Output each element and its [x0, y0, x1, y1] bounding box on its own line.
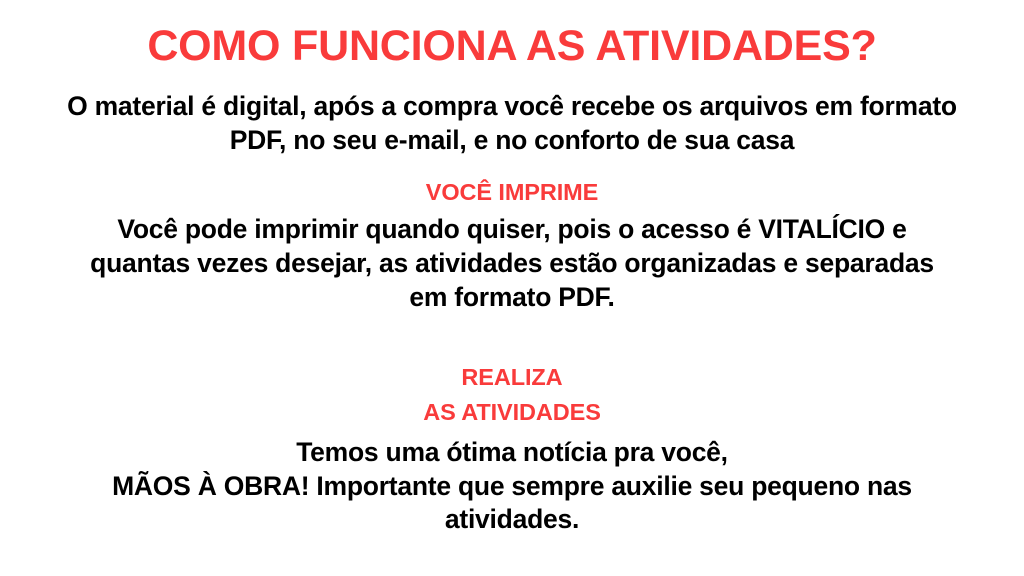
page-title: COMO FUNCIONA AS ATIVIDADES?	[0, 0, 1024, 68]
section-voce-imprime: VOCÊ IMPRIME Você pode imprimir quando q…	[0, 178, 1024, 315]
intro-paragraph: O material é digital, após a compra você…	[0, 90, 1024, 158]
imprime-text: Você pode imprimir quando quiser, pois o…	[14, 213, 1010, 315]
intro-text: O material é digital, após a compra você…	[14, 90, 1010, 158]
realiza-text: Temos uma ótima notícia pra você, MÃOS À…	[14, 436, 1010, 538]
imprime-line-3: em formato PDF.	[14, 281, 1010, 315]
imprime-line-2: quantas vezes desejar, as atividades est…	[14, 247, 1010, 281]
intro-line-1: O material é digital, após a compra você…	[14, 90, 1010, 124]
intro-line-2: PDF, no seu e-mail, e no conforto de sua…	[14, 124, 1010, 158]
realiza-line-2: MÃOS À OBRA! Importante que sempre auxil…	[14, 470, 1010, 504]
subheading-as-atividades: AS ATIVIDADES	[14, 398, 1010, 427]
imprime-line-1: Você pode imprimir quando quiser, pois o…	[14, 213, 1010, 247]
realiza-line-3: atividades.	[14, 503, 1010, 537]
section-realiza-atividades: REALIZA AS ATIVIDADES Temos uma ótima no…	[0, 363, 1024, 537]
subheading-voce-imprime: VOCÊ IMPRIME	[14, 178, 1010, 207]
realiza-line-1: Temos uma ótima notícia pra você,	[14, 436, 1010, 470]
subheading-realiza: REALIZA	[14, 363, 1010, 392]
promo-slide: COMO FUNCIONA AS ATIVIDADES? O material …	[0, 0, 1024, 576]
